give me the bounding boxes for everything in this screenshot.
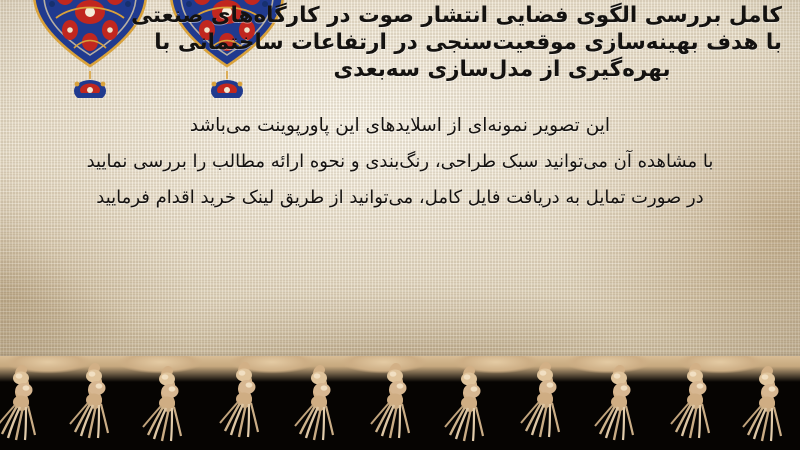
body-line-2: با مشاهده آن می‌توانید سبک طراحی، رنگ‌بن… <box>0 144 800 180</box>
slide-text-layer: کامل بررسی الگوی فضایی انتشار صوت در کار… <box>0 0 800 372</box>
title-line-2: با هدف بهینه‌سازی موقعیت‌سنجی در ارتفاعا… <box>222 29 782 56</box>
title-line-3: بهره‌گیری از مدل‌سازی سه‌بعدی <box>222 56 782 83</box>
carpet-fringe-border <box>0 356 800 450</box>
title-line-1: کامل بررسی الگوی فضایی انتشار صوت در کار… <box>222 2 782 29</box>
slide-canvas: کامل بررسی الگوی فضایی انتشار صوت در کار… <box>0 0 800 450</box>
body-line-1: این تصویر نمونه‌ای از اسلایدهای این پاور… <box>0 108 800 144</box>
tassel-row-icon <box>0 356 800 450</box>
body-line-3: در صورت تمایل به دریافت فایل کامل، می‌تو… <box>0 180 800 216</box>
slide-title: کامل بررسی الگوی فضایی انتشار صوت در کار… <box>222 2 782 83</box>
slide-body: این تصویر نمونه‌ای از اسلایدهای این پاور… <box>0 108 800 216</box>
